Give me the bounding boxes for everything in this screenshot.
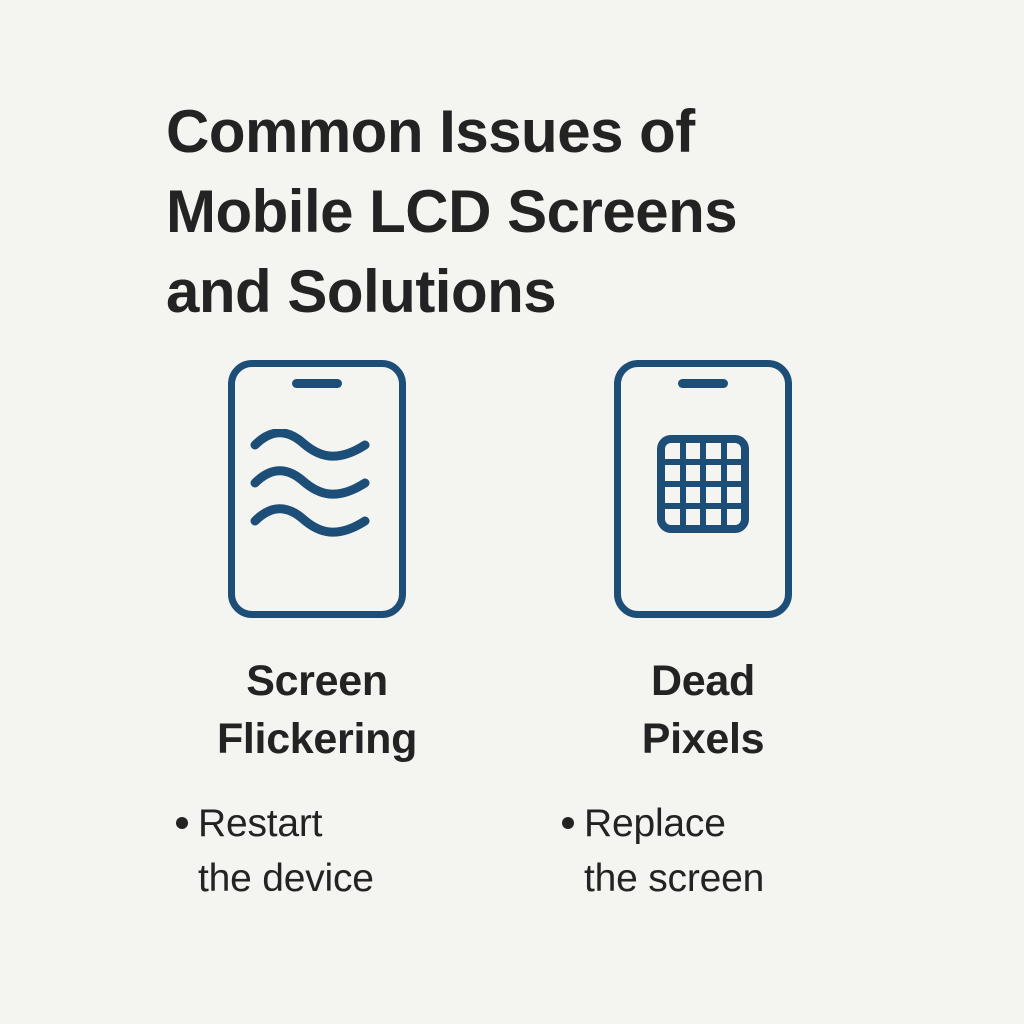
list-item: Replace the screen: [538, 796, 868, 906]
pixel-cell: [686, 509, 701, 525]
pixel-cell: [665, 465, 680, 481]
pixel-cell: [665, 487, 680, 503]
pixel-cell: [686, 443, 701, 459]
solution-line-2: the screen: [584, 851, 868, 906]
pixel-cell: [706, 509, 721, 525]
infographic-canvas: Common Issues of Mobile LCD Screens and …: [0, 0, 1024, 1024]
issue-heading-dead-pixels: Dead Pixels: [538, 652, 868, 768]
issue-heading-line-1: Dead: [538, 652, 868, 710]
issue-heading-line-1: Screen: [152, 652, 482, 710]
pixel-cell: [706, 487, 721, 503]
solution-line-1: Restart: [198, 796, 482, 851]
issue-column-dead-pixels: Dead Pixels Replace the screen: [538, 360, 868, 906]
phone-pixel-grid-icon-wrap: [538, 360, 868, 618]
solution-line-1: Replace: [584, 796, 868, 851]
bullet-dot-icon: [562, 817, 574, 829]
pixel-cell: [665, 509, 680, 525]
page-title: Common Issues of Mobile LCD Screens and …: [166, 92, 926, 332]
issue-heading-line-2: Flickering: [152, 710, 482, 768]
pixel-cell: [686, 465, 701, 481]
issue-column-screen-flickering: Screen Flickering Restart the device: [152, 360, 482, 906]
phone-speaker-slot-icon: [678, 379, 728, 388]
list-item: Restart the device: [152, 796, 482, 906]
wavy-lines-icon: [249, 429, 385, 537]
pixel-grid-icon: [657, 435, 749, 533]
title-line-3: and Solutions: [166, 252, 926, 332]
pixel-cell: [665, 443, 680, 459]
pixel-cell: [706, 465, 721, 481]
pixel-cell: [727, 487, 742, 503]
issue-heading-line-2: Pixels: [538, 710, 868, 768]
title-line-2: Mobile LCD Screens: [166, 172, 926, 252]
phone-wavy-lines-icon: [228, 360, 406, 618]
phone-wavy-lines-icon-wrap: [152, 360, 482, 618]
solution-line-2: the device: [198, 851, 482, 906]
bullet-dot-icon: [176, 817, 188, 829]
issue-heading-screen-flickering: Screen Flickering: [152, 652, 482, 768]
pixel-cell: [706, 443, 721, 459]
title-line-1: Common Issues of: [166, 92, 926, 172]
solution-list-dead-pixels: Replace the screen: [538, 796, 868, 906]
pixel-cell: [727, 465, 742, 481]
solution-list-screen-flickering: Restart the device: [152, 796, 482, 906]
pixel-cell: [686, 487, 701, 503]
pixel-cell: [727, 443, 742, 459]
pixel-cell: [727, 509, 742, 525]
phone-speaker-slot-icon: [292, 379, 342, 388]
phone-pixel-grid-icon: [614, 360, 792, 618]
